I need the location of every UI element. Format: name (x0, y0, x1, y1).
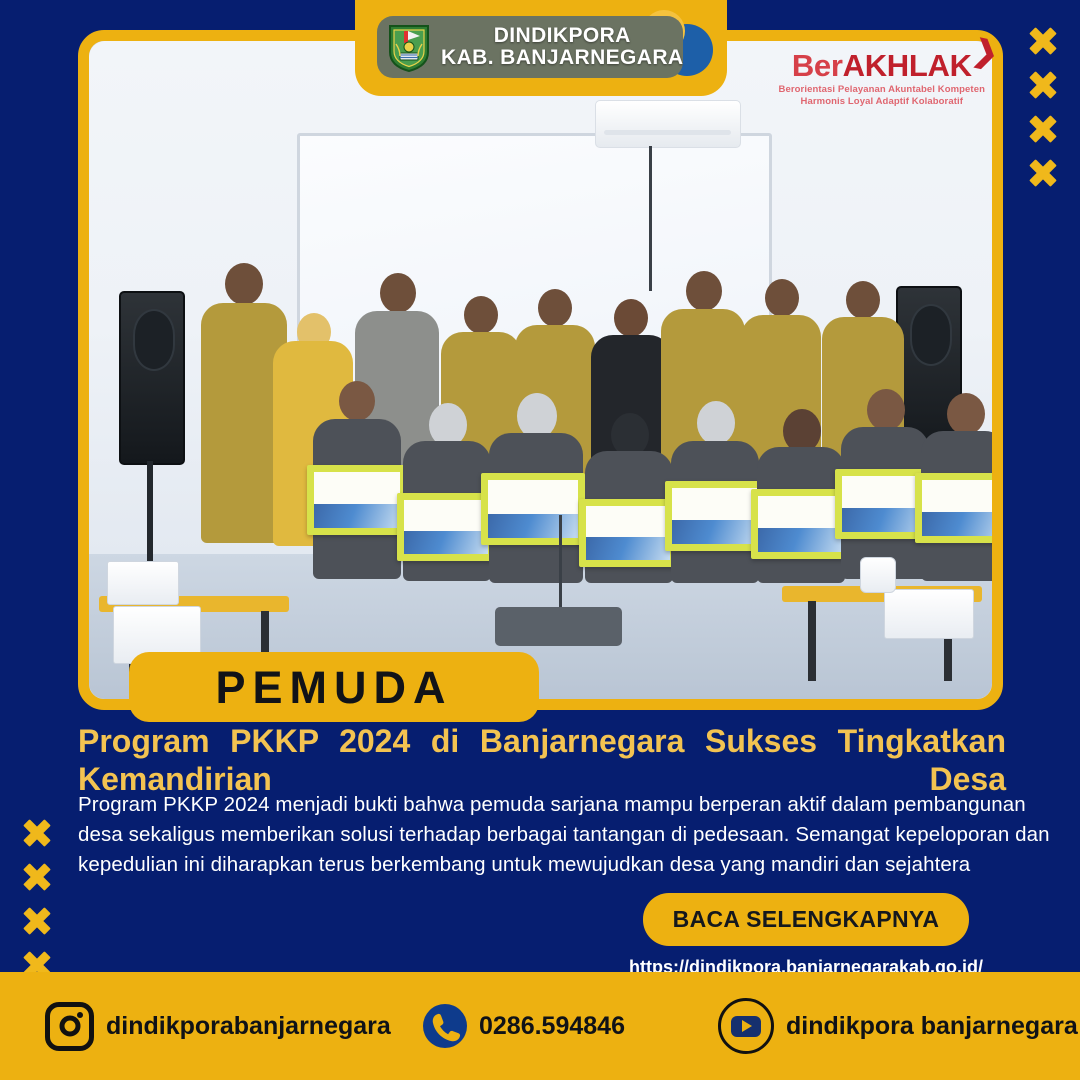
youtube-icon (718, 998, 774, 1054)
photo-projector (495, 607, 621, 646)
berakhlak-wordmark: BerAKHLAK ❯ (779, 50, 985, 81)
x-mark-icon (1028, 158, 1058, 188)
header-badge-line1: DINDIKPORA (441, 25, 683, 47)
x-mark-icon (22, 862, 52, 892)
photo-box (107, 561, 179, 605)
berakhlak-suffix: AKHLAK (843, 48, 972, 83)
photo-speaker-left (119, 291, 185, 465)
decorative-x-column-left (22, 818, 52, 980)
header-badge: DINDIKPORA KAB. BANJARNEGARA (355, 0, 727, 96)
x-mark-icon (1028, 114, 1058, 144)
header-badge-inner: DINDIKPORA KAB. BANJARNEGARA (377, 16, 683, 78)
x-mark-icon (22, 906, 52, 936)
read-more-button[interactable]: BACA SELENGKAPNYA (643, 893, 970, 946)
berakhlak-logo: BerAKHLAK ❯ Berorientasi Pelayanan Akunt… (779, 50, 985, 108)
phone-icon (423, 1004, 467, 1048)
instagram-icon (45, 1002, 94, 1051)
footer-instagram[interactable]: dindikporabanjarnegara (45, 1002, 391, 1051)
berakhlak-tagline: Berorientasi Pelayanan Akuntabel Kompete… (779, 84, 985, 108)
berakhlak-prefix: Ber (792, 48, 843, 83)
photo-air-conditioner (595, 100, 741, 148)
photo-box (884, 589, 974, 639)
event-photo-frame (78, 30, 1003, 710)
article-body: Program PKKP 2024 menjadi bukti bahwa pe… (78, 790, 1056, 880)
category-badge-label: PEMUDA (215, 665, 452, 710)
berakhlak-tagline-line2: Harmonis Loyal Adaptif Kolaboratif (779, 96, 985, 108)
photo-cup (860, 557, 896, 593)
x-mark-icon (22, 818, 52, 848)
event-photo (89, 41, 992, 699)
instagram-handle: dindikporabanjarnegara (106, 1012, 391, 1041)
banjarnegara-coat-of-arms-icon (387, 22, 431, 72)
photo-cable (649, 146, 652, 291)
berakhlak-tagline-line1: Berorientasi Pelayanan Akuntabel Kompete… (779, 84, 985, 96)
category-badge-pemuda: PEMUDA (129, 652, 539, 722)
decorative-x-column-right (1028, 26, 1058, 188)
x-mark-icon (1028, 70, 1058, 100)
footer-phone[interactable]: 0286.594846 (423, 1004, 625, 1048)
poster-canvas: BerAKHLAK ❯ Berorientasi Pelayanan Akunt… (0, 0, 1080, 1080)
photo-table-leg (808, 601, 816, 681)
phone-number: 0286.594846 (479, 1012, 625, 1041)
photo-cable (559, 515, 562, 607)
youtube-channel: dindikpora banjarnegara (786, 1012, 1078, 1041)
header-badge-text: DINDIKPORA KAB. BANJARNEGARA (441, 25, 683, 70)
header-badge-line2: KAB. BANJARNEGARA (441, 47, 683, 69)
x-mark-icon (1028, 26, 1058, 56)
footer-bar: dindikporabanjarnegara 0286.594846 dindi… (0, 972, 1080, 1080)
footer-youtube[interactable]: dindikpora banjarnegara (718, 998, 1078, 1054)
